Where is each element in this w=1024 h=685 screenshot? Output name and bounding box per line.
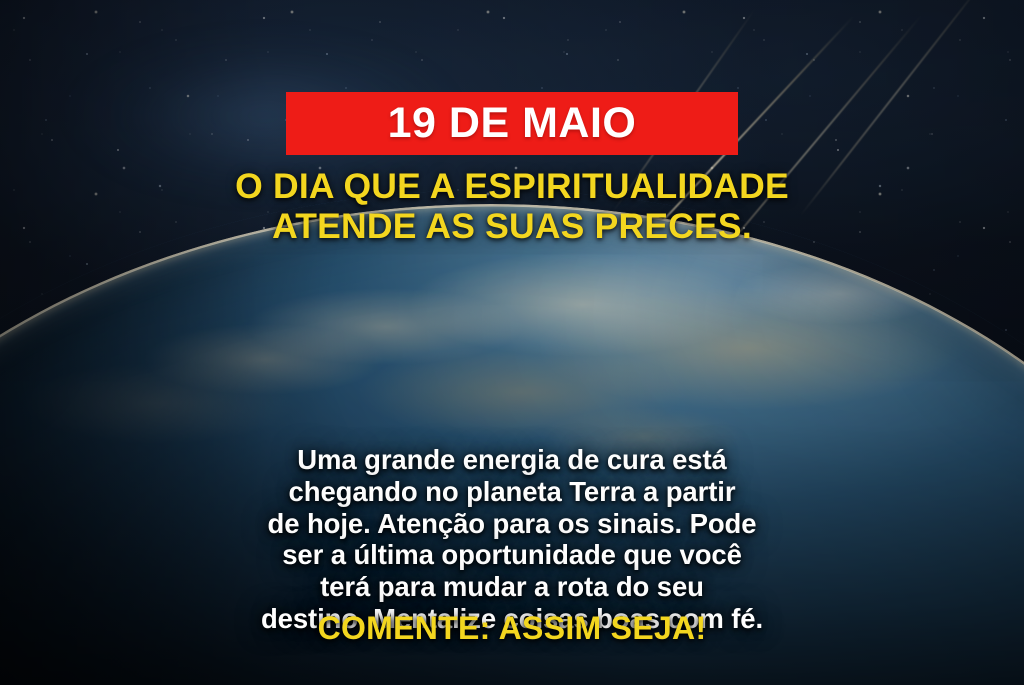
call-to-action-text: COMENTE: ASSIM SEJA! [318, 610, 707, 646]
date-banner: 19 DE MAIO [286, 92, 738, 155]
call-to-action: COMENTE: ASSIM SEJA! [0, 612, 1024, 644]
body-line-4: ser a última oportunidade que você [58, 539, 966, 571]
headline-line-2: ATENDE AS SUAS PRECES. [48, 206, 976, 246]
poster-canvas: 19 DE MAIO O DIA QUE A ESPIRITUALIDADE A… [0, 0, 1024, 685]
body-line-2: chegando no planeta Terra a partir [58, 476, 966, 508]
headline: O DIA QUE A ESPIRITUALIDADE ATENDE AS SU… [0, 166, 1024, 246]
body-line-5: terá para mudar a rota do seu [58, 571, 966, 603]
body-line-1: Uma grande energia de cura está [58, 444, 966, 476]
date-banner-text: 19 DE MAIO [388, 102, 637, 145]
body-line-3: de hoje. Atenção para os sinais. Pode [58, 508, 966, 540]
body-paragraph: Uma grande energia de cura está chegando… [0, 444, 1024, 635]
headline-line-1: O DIA QUE A ESPIRITUALIDADE [48, 166, 976, 206]
poster-content: 19 DE MAIO O DIA QUE A ESPIRITUALIDADE A… [0, 0, 1024, 685]
